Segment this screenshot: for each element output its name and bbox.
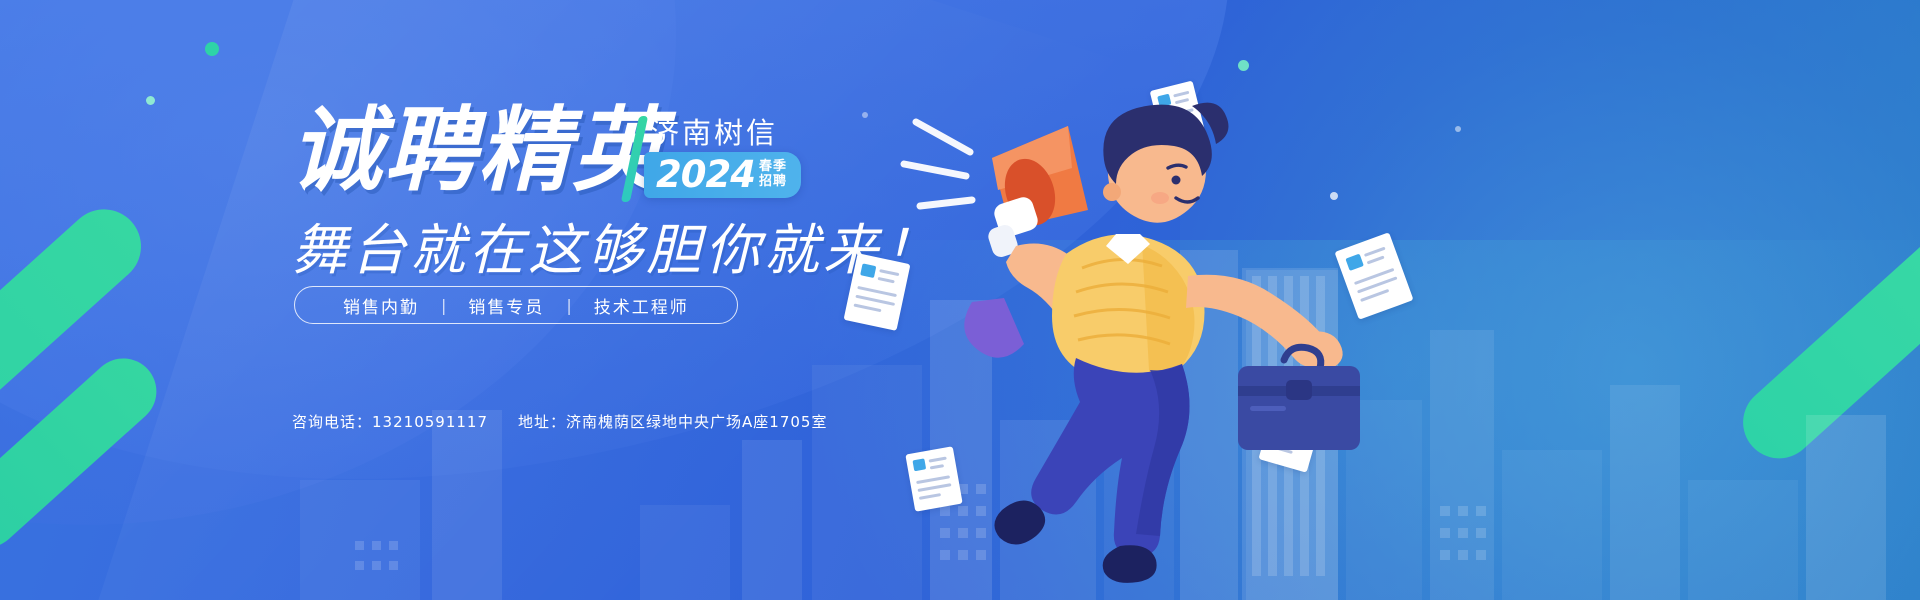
eye	[1172, 176, 1181, 185]
shoe-front	[1103, 545, 1157, 583]
badge-season-line2: 招聘	[759, 175, 787, 189]
sound-waves-icon	[904, 122, 972, 206]
badge-season-line1: 春季	[759, 160, 787, 174]
page-title: 诚聘精英	[290, 105, 666, 197]
job-tag-2[interactable]: 销售专员	[446, 293, 566, 318]
job-tag-3[interactable]: 技术工程师	[572, 293, 711, 318]
badge-season: 春季 招聘	[759, 160, 787, 188]
address-group: 地址：济南槐荫区绿地中央广场A座1705室	[518, 411, 827, 432]
hero-illustration	[820, 40, 1540, 600]
address-label: 地址：	[518, 413, 566, 431]
address-value: 济南槐荫区绿地中央广场A座1705室	[566, 413, 827, 431]
job-tags-container: 销售内勤 | 销售专员 | 技术工程师	[294, 286, 738, 324]
company-name: 济南树信	[650, 110, 778, 152]
shoe-back	[994, 500, 1045, 544]
cheek-blush	[1151, 192, 1169, 204]
back-shoe	[964, 298, 1024, 358]
recruitment-banner: 诚聘精英 济南树信 2024 春季 招聘 舞台就在这够胆你就来！ 销售内勤 | …	[0, 0, 1920, 600]
badge-year: 2024	[656, 156, 755, 193]
job-tag-1[interactable]: 销售内勤	[321, 293, 441, 318]
megaphone-icon	[986, 126, 1088, 259]
phone-label: 咨询电话：	[292, 413, 372, 431]
season-badge: 2024 春季 招聘	[644, 152, 801, 198]
businessman-character-svg	[820, 40, 1540, 600]
head	[1103, 103, 1228, 223]
contact-info: 咨询电话：13210591117 地址：济南槐荫区绿地中央广场A座1705室	[292, 411, 827, 432]
phone-group: 咨询电话：13210591117	[292, 411, 488, 432]
phone-value: 13210591117	[372, 413, 488, 431]
